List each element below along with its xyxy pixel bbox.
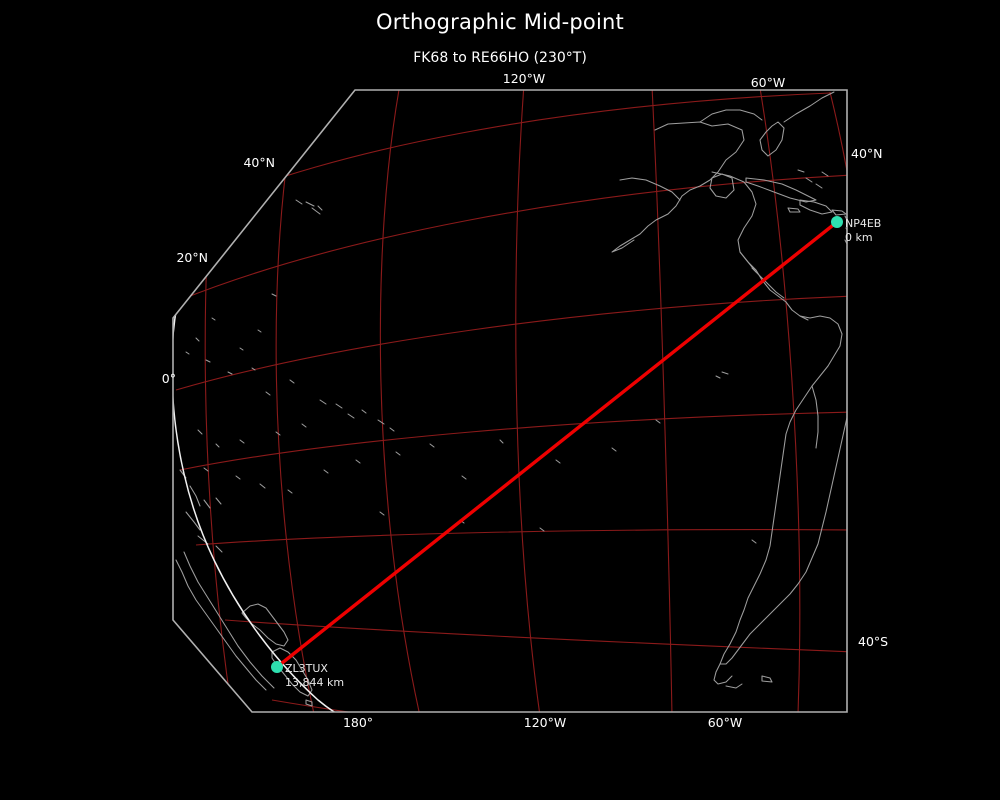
map-background [170,85,855,720]
station-label-zl3tux-distance: 13,844 km [285,676,344,689]
axis-label-right-1: 40°S [858,634,888,649]
station-label-np4eb-distance: 0 km [845,231,873,244]
axis-label-left-1: 20°N [176,250,208,265]
station-marker-np4eb[interactable] [831,216,843,228]
axis-label-bottom-2: 60°W [708,715,743,730]
station-label-np4eb-callsign: NP4EB [845,217,881,230]
axis-label-bottom-0: 180° [343,715,373,730]
axis-label-top-1: 60°W [751,75,786,90]
axis-label-right-0: 40°N [851,146,883,161]
orthographic-map: NP4EB 0 km ZL3TUX 13,844 km 120°W 60°W 1… [0,0,1000,800]
map-figure: Orthographic Mid-point FK68 to RE66HO (2… [0,0,1000,800]
axis-label-left-0: 40°N [243,155,275,170]
axis-label-top-0: 120°W [503,71,545,86]
axis-label-bottom-1: 120°W [524,715,566,730]
axis-label-left-2: 0° [162,371,176,386]
station-label-zl3tux-callsign: ZL3TUX [285,662,328,675]
station-marker-zl3tux[interactable] [271,661,283,673]
